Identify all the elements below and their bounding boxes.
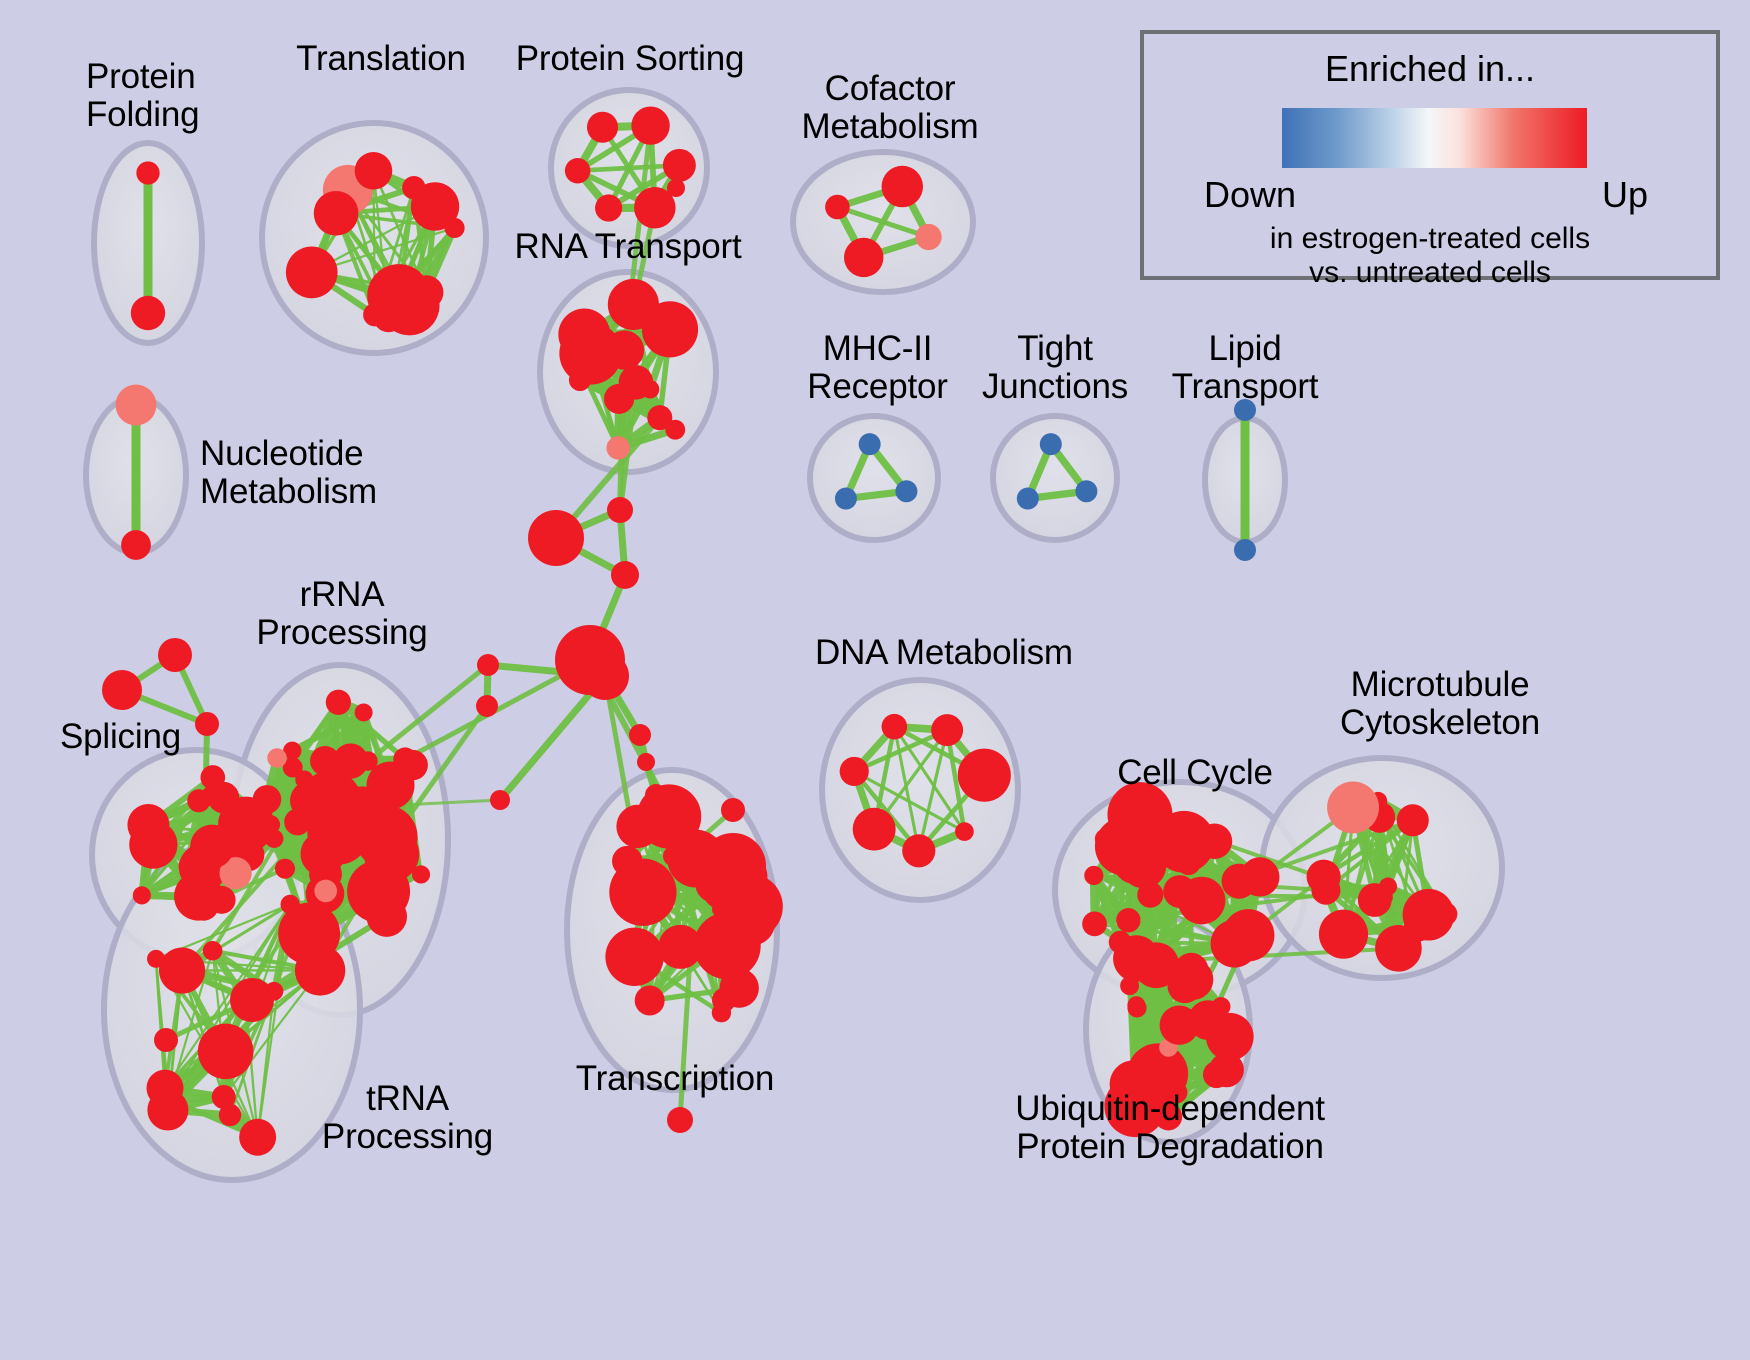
network-node[interactable] (608, 279, 659, 330)
legend-low-label: Down (1204, 174, 1296, 216)
network-node[interactable] (355, 703, 373, 721)
network-node[interactable] (295, 945, 345, 995)
network-node[interactable] (853, 808, 896, 851)
network-node[interactable] (607, 497, 633, 523)
legend-caption-line2: vs. untreated cells (1309, 256, 1551, 289)
network-node[interactable] (1375, 925, 1422, 972)
network-node[interactable] (284, 809, 311, 836)
network-node[interactable] (121, 530, 151, 560)
network-node[interactable] (1327, 782, 1379, 834)
network-node[interactable] (840, 757, 869, 786)
legend-title: Enriched in... (1144, 48, 1716, 90)
network-node[interactable] (637, 753, 655, 771)
figure-canvas: Protein Folding Translation Nucleotide M… (0, 0, 1750, 1360)
legend-caption-line1: in estrogen-treated cells (1270, 222, 1590, 255)
cluster-label-rna-transport: RNA Transport (508, 228, 748, 266)
network-node[interactable] (610, 387, 634, 411)
network-node[interactable] (611, 561, 639, 589)
cluster-label-rrna-processing: rRNA Processing (242, 576, 442, 652)
network-node[interactable] (314, 880, 337, 903)
network-node[interactable] (1230, 926, 1262, 958)
network-node[interactable] (606, 436, 629, 459)
network-node[interactable] (1160, 1006, 1199, 1045)
network-node[interactable] (721, 798, 745, 822)
network-node[interactable] (605, 928, 663, 986)
network-node[interactable] (239, 1119, 276, 1156)
cluster-label-cofactor-metabolism: Cofactor Metabolism (790, 70, 990, 146)
cluster-label-cell-cycle: Cell Cycle (1105, 754, 1285, 792)
network-node[interactable] (931, 714, 963, 746)
network-node[interactable] (587, 112, 618, 143)
network-node[interactable] (314, 191, 359, 236)
network-node[interactable] (281, 895, 300, 914)
network-node[interactable] (286, 247, 338, 299)
network-node[interactable] (355, 152, 393, 190)
network-node[interactable] (641, 380, 659, 398)
network-node[interactable] (595, 194, 622, 221)
network-node[interactable] (631, 106, 669, 144)
network-node[interactable] (559, 322, 621, 384)
network-node[interactable] (158, 638, 192, 672)
network-node[interactable] (902, 834, 935, 867)
network-node[interactable] (958, 749, 1011, 802)
legend-high-label: Up (1602, 174, 1648, 216)
network-node[interactable] (1113, 935, 1159, 981)
network-node[interactable] (1075, 480, 1097, 502)
network-node[interactable] (174, 872, 223, 921)
network-node[interactable] (825, 195, 850, 220)
network-node[interactable] (1234, 539, 1256, 561)
network-node[interactable] (635, 986, 665, 1016)
cluster-label-microtubule-cytoskeleton: Microtubule Cytoskeleton (1300, 666, 1580, 742)
cluster-label-transcription: Transcription (570, 1060, 780, 1098)
network-node[interactable] (915, 224, 941, 250)
network-node[interactable] (198, 1024, 254, 1080)
network-node[interactable] (1225, 875, 1243, 893)
network-node[interactable] (190, 825, 234, 869)
network-node[interactable] (895, 480, 917, 502)
network-node[interactable] (1153, 811, 1215, 873)
network-node[interactable] (882, 166, 923, 207)
network-node[interactable] (398, 750, 428, 780)
network-node[interactable] (275, 859, 295, 879)
network-node[interactable] (528, 510, 584, 566)
cluster-label-protein-sorting: Protein Sorting (505, 40, 755, 78)
network-node[interactable] (1311, 876, 1340, 905)
network-node[interactable] (402, 176, 425, 199)
network-node[interactable] (859, 433, 881, 455)
network-node[interactable] (1163, 875, 1196, 908)
network-node[interactable] (444, 218, 464, 238)
network-node[interactable] (1397, 804, 1429, 836)
network-node[interactable] (712, 988, 736, 1012)
network-node[interactable] (219, 1104, 241, 1126)
network-node[interactable] (200, 765, 225, 790)
legend-caption: in estrogen-treated cellsvs. untreated c… (1144, 222, 1716, 289)
network-node[interactable] (133, 886, 151, 904)
network-node[interactable] (581, 652, 629, 700)
network-node[interactable] (300, 832, 344, 876)
cluster-label-protein-folding: Protein Folding (86, 58, 286, 134)
network-node[interactable] (835, 488, 857, 510)
cluster-label-ubiquitin-protein-degradation: Ubiquitin-dependent Protein Degradation (985, 1090, 1355, 1166)
network-node[interactable] (565, 158, 590, 183)
network-node[interactable] (882, 714, 908, 740)
cluster-label-mhc-ii-receptor: MHC-II Receptor (790, 330, 965, 406)
network-node[interactable] (490, 790, 510, 810)
network-node[interactable] (663, 846, 683, 866)
network-node[interactable] (131, 296, 165, 330)
cluster-label-translation: Translation (281, 40, 481, 78)
network-node[interactable] (156, 1087, 181, 1112)
network-node[interactable] (187, 789, 210, 812)
network-node[interactable] (1127, 996, 1145, 1014)
network-node[interactable] (476, 695, 498, 717)
network-node[interactable] (609, 859, 676, 926)
network-node[interactable] (241, 802, 264, 825)
cluster-label-dna-metabolism: DNA Metabolism (815, 634, 1065, 672)
network-node[interactable] (665, 420, 685, 440)
network-node[interactable] (645, 784, 667, 806)
network-node[interactable] (154, 1028, 178, 1052)
network-node[interactable] (1319, 910, 1368, 959)
cluster-label-tight-junctions: Tight Junctions (965, 330, 1145, 406)
network-node[interactable] (663, 149, 696, 182)
legend-color-bar (1282, 108, 1587, 168)
cluster-label-splicing: Splicing (60, 718, 220, 756)
network-node[interactable] (1434, 903, 1457, 926)
network-node[interactable] (1172, 959, 1213, 1000)
network-node[interactable] (477, 654, 499, 676)
network-node[interactable] (667, 179, 685, 197)
network-node[interactable] (955, 822, 974, 841)
network-node[interactable] (1203, 1061, 1230, 1088)
network-node[interactable] (127, 804, 169, 846)
network-node[interactable] (147, 950, 165, 968)
network-node[interactable] (373, 301, 405, 333)
network-node[interactable] (136, 161, 159, 184)
network-node[interactable] (629, 724, 651, 746)
network-node[interactable] (694, 912, 761, 979)
network-node[interactable] (326, 690, 351, 715)
network-node[interactable] (1040, 433, 1062, 455)
cluster-label-nucleotide-metabolism: Nucleotide Metabolism (200, 435, 430, 511)
network-node[interactable] (267, 748, 286, 767)
legend-panel: Enriched in... Down Up in estrogen-treat… (1140, 30, 1720, 280)
network-node[interactable] (844, 238, 883, 277)
network-node[interactable] (102, 670, 142, 710)
network-node[interactable] (1379, 878, 1397, 896)
network-node[interactable] (364, 827, 419, 882)
network-node[interactable] (1084, 866, 1103, 885)
network-node[interactable] (333, 743, 368, 778)
cluster-label-trna-processing: tRNA Processing (300, 1080, 515, 1156)
network-node[interactable] (1017, 488, 1039, 510)
network-node[interactable] (1116, 908, 1140, 932)
network-node[interactable] (341, 786, 383, 828)
network-node[interactable] (230, 978, 274, 1022)
cluster-label-lipid-transport: Lipid Transport (1155, 330, 1335, 406)
network-node[interactable] (203, 941, 223, 961)
network-node[interactable] (116, 385, 157, 426)
network-node[interactable] (1095, 829, 1116, 850)
network-node[interactable] (159, 947, 205, 993)
network-node[interactable] (667, 1107, 693, 1133)
network-node[interactable] (1082, 911, 1107, 936)
